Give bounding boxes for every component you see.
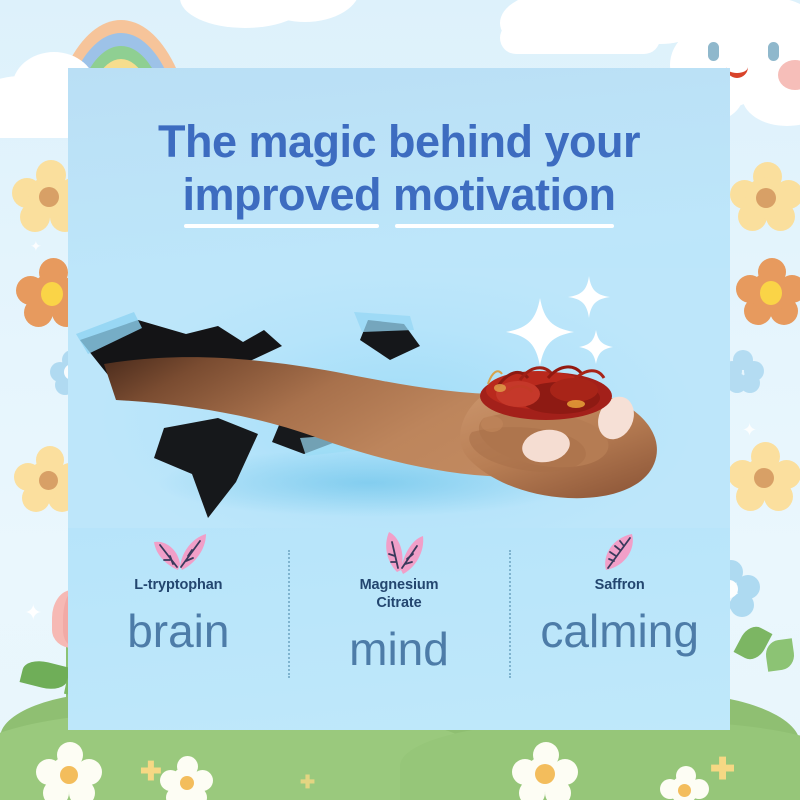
ingredient-columns: L-tryptophan brain Magnesium Citrate	[68, 528, 730, 730]
ingredient-label: Magnesium Citrate	[360, 576, 439, 612]
torn-paper-hole	[68, 268, 730, 528]
sparkle-star-icon	[506, 276, 613, 366]
headline-underlined-motivation: motivation	[393, 169, 616, 222]
content-card: The magic behind your improved motivatio…	[68, 68, 730, 730]
daisy-icon	[512, 742, 576, 800]
headline-line-2: improved motivation	[68, 169, 730, 222]
poster-canvas: ✚ ✚ ✚ ✦ ✦ ✦ The magic behind your improv…	[0, 0, 800, 800]
ingredient-label-line-1: Magnesium	[360, 577, 439, 593]
pink-leaf-single-icon	[590, 530, 650, 576]
cloud-icon	[180, 0, 380, 34]
sparkle-icon: ✦	[24, 600, 42, 626]
ingredient-benefit-word: brain	[127, 608, 229, 654]
headline-line-1: The magic behind your	[68, 116, 730, 169]
headline-underlined-improved: improved	[182, 169, 381, 222]
grass-hill-icon	[400, 722, 800, 800]
ingredient-column-saffron: Saffron calming	[509, 528, 730, 730]
flower-icon	[736, 258, 800, 326]
page-title: The magic behind your improved motivatio…	[68, 116, 730, 221]
ingredient-column-l-tryptophan: L-tryptophan brain	[68, 528, 289, 730]
daisy-icon	[36, 742, 100, 800]
ingredient-column-magnesium-citrate: Magnesium Citrate mind	[289, 528, 510, 730]
flower-icon	[730, 162, 800, 232]
sparkle-icon: ✦	[30, 238, 42, 255]
sparkle-icon: ✦	[742, 420, 757, 441]
daisy-icon	[660, 766, 708, 800]
ingredient-label: L-tryptophan	[134, 576, 222, 594]
hand-saffron-photo	[68, 268, 730, 528]
ingredient-label: Saffron	[595, 576, 645, 594]
pink-leaf-pair-icon	[148, 530, 208, 576]
ingredient-benefit-word: calming	[540, 608, 699, 654]
sparkle-icon: ✚	[140, 756, 162, 787]
ingredient-benefit-word: mind	[349, 626, 449, 672]
ingredient-label-line-2: Citrate	[376, 595, 421, 611]
daisy-icon	[160, 756, 212, 800]
sparkle-icon: ✚	[710, 752, 735, 787]
flower-icon	[728, 442, 798, 512]
saffron-threads	[480, 367, 612, 420]
sparkle-icon: ✚	[300, 772, 315, 793]
pink-leaf-pair-icon	[369, 530, 429, 576]
